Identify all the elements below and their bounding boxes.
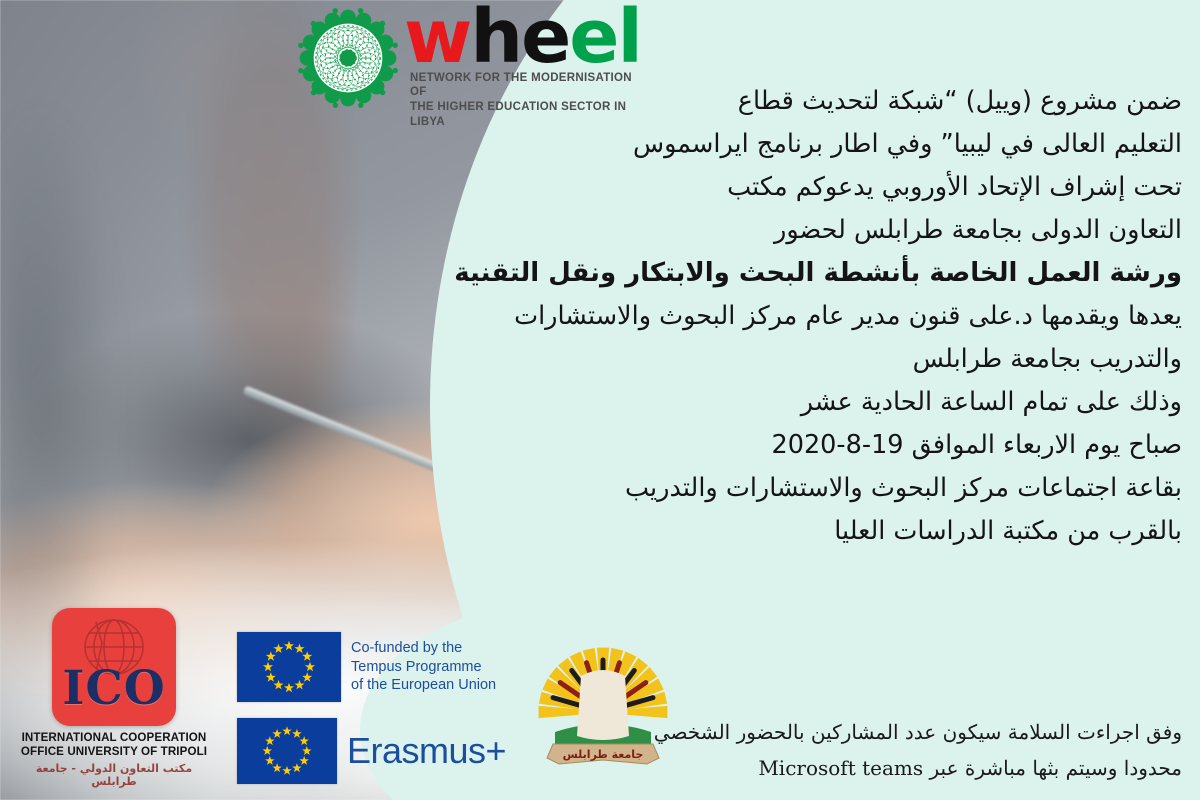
eu-tempus-line2: Tempus Programme — [351, 658, 496, 677]
eu-tempus-text: Co-funded by the Tempus Programme of the… — [351, 639, 496, 696]
announcement-date-line: صباح يوم الاربعاء الموافق 19-8-2020 — [522, 424, 1182, 467]
eu-tempus-line1: Co-funded by the — [351, 639, 496, 658]
ico-caption-line1: INTERNATIONAL COOPERATION — [16, 731, 212, 745]
green-mandala-wheel-icon — [296, 6, 400, 110]
erasmus-plus-label: Erasmus+ — [347, 733, 506, 769]
ico-acronym: ICO — [52, 665, 176, 712]
ico-badge: ICO — [52, 608, 176, 726]
announcement-line: وذلك على تمام الساعة الحادية عشر — [522, 381, 1182, 424]
ico-caption: INTERNATIONAL COOPERATION OFFICE UNIVERS… — [16, 731, 212, 759]
ico-logo: ICO INTERNATIONAL COOPERATION OFFICE UNI… — [16, 608, 212, 788]
ico-caption-arabic: مكتب التعاون الدولي - جامعة طرابلس — [16, 762, 212, 788]
wheel-letter-h: h — [470, 0, 521, 80]
ico-caption-line2: OFFICE UNIVERSITY OF TRIPOLI — [16, 745, 212, 759]
announcement-venue-line: بقاعة اجتماعات مركز البحوث والاستشارات و… — [522, 467, 1182, 510]
university-of-tripoli-emblem: جامعة طرابلس — [537, 640, 669, 768]
european-union-flag-icon — [237, 632, 341, 702]
european-union-flag-icon — [237, 718, 337, 784]
wheel-wordmark: wheel — [404, 6, 646, 70]
announcement-line: ضمن مشروع (وييل) “شبكة لتحديث قطاع — [522, 80, 1182, 123]
announcement-line: التعاون الدولى بجامعة طرابلس لحضور — [522, 209, 1182, 252]
uot-banner-text: جامعة طرابلس — [563, 748, 644, 761]
poster-canvas: wheel NETWORK FOR THE MODERNISATION OF T… — [0, 0, 1200, 800]
wheel-letter-l: l — [617, 0, 640, 80]
wheel-letter-w: w — [404, 0, 470, 80]
eu-logos: Co-funded by the Tempus Programme of the… — [237, 632, 507, 784]
eu-tempus-line3: of the European Union — [351, 676, 496, 695]
eu-tempus-logo: Co-funded by the Tempus Programme of the… — [237, 632, 507, 702]
wheel-letter-e2: e — [569, 0, 617, 80]
announcement-text: ضمن مشروع (وييل) “شبكة لتحديث قطاع التعل… — [522, 80, 1182, 553]
announcement-line: التعليم العالى في ليبيا” وفي اطار برنامج… — [522, 123, 1182, 166]
announcement-line: يعدها ويقدمها د.على قنون مدير عام مركز ا… — [522, 295, 1182, 338]
event-title: ورشة العمل الخاصة بأنشطة البحث والابتكار… — [522, 252, 1182, 295]
announcement-venue-line: بالقرب من مكتبة الدراسات العليا — [522, 510, 1182, 553]
erasmus-plus-logo: Erasmus+ — [237, 718, 507, 784]
wheel-letter-e1: e — [521, 0, 569, 80]
announcement-line: تحت إشراف الإتحاد الأوروبي يدعوكم مكتب — [522, 166, 1182, 209]
announcement-line: والتدريب بجامعة طرابلس — [522, 338, 1182, 381]
